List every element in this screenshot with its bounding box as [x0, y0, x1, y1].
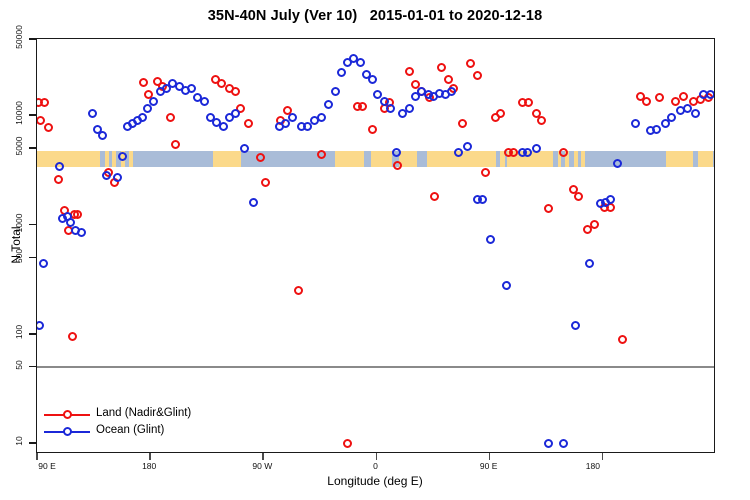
y-axis-tick-label: 50000 — [14, 17, 24, 57]
data-point — [667, 113, 676, 122]
x-axis-tick-label: 90 W — [232, 461, 292, 471]
data-point — [231, 109, 240, 118]
data-point — [502, 281, 511, 290]
y-axis-tick — [29, 114, 36, 116]
land-span — [371, 151, 391, 166]
data-point — [691, 109, 700, 118]
y-axis-tick-label: 10 — [14, 421, 24, 461]
data-point — [458, 119, 467, 128]
data-point — [187, 84, 196, 93]
data-point — [523, 148, 532, 157]
data-point — [652, 125, 661, 134]
data-point — [249, 198, 258, 207]
data-point — [88, 109, 97, 118]
reference-line-50 — [37, 366, 714, 368]
data-point — [68, 332, 77, 341]
legend-circle-icon — [63, 427, 72, 436]
data-point — [606, 195, 615, 204]
data-point — [171, 140, 180, 149]
land-span — [666, 151, 694, 166]
land-span — [105, 151, 109, 166]
data-point — [288, 113, 297, 122]
x-axis-tick-label: 0 — [346, 461, 406, 471]
data-point — [585, 259, 594, 268]
data-point — [244, 119, 253, 128]
data-point — [392, 148, 401, 157]
data-point — [261, 178, 270, 187]
data-point — [393, 161, 402, 170]
data-point — [679, 92, 688, 101]
data-point — [343, 439, 352, 448]
data-point — [44, 123, 53, 132]
data-point — [706, 90, 714, 99]
data-point — [631, 119, 640, 128]
data-point — [37, 321, 44, 330]
legend-marker-icon — [44, 406, 90, 423]
data-point — [368, 125, 377, 134]
x-axis-tick-label: 90 E — [459, 461, 519, 471]
land-span — [129, 151, 133, 166]
data-point — [486, 235, 495, 244]
data-point — [447, 87, 456, 96]
data-point — [337, 68, 346, 77]
data-point — [478, 195, 487, 204]
data-point — [368, 75, 377, 84]
data-point — [496, 109, 505, 118]
land-span — [335, 151, 364, 166]
data-point — [574, 192, 583, 201]
x-axis-label: Longitude (deg E) — [0, 474, 750, 488]
data-point — [317, 113, 326, 122]
legend-marker-icon — [44, 423, 90, 440]
land-span — [112, 151, 116, 166]
x-axis-tick — [36, 453, 38, 460]
data-point — [544, 204, 553, 213]
x-axis-tick-label: 180 — [119, 461, 179, 471]
land-span — [581, 151, 585, 166]
data-point — [54, 175, 63, 184]
data-point — [324, 100, 333, 109]
data-point — [655, 93, 664, 102]
data-point — [524, 98, 533, 107]
data-point — [138, 113, 147, 122]
data-point — [240, 144, 249, 153]
x-axis-tick — [602, 453, 604, 460]
legend-label: Land (Nadir&Glint) — [96, 407, 191, 419]
y-axis-tick — [29, 366, 36, 368]
data-point — [430, 192, 439, 201]
data-point — [537, 116, 546, 125]
data-point — [466, 59, 475, 68]
data-point — [331, 87, 340, 96]
land-span — [698, 151, 713, 166]
data-point — [77, 228, 86, 237]
data-point — [642, 97, 651, 106]
land-span — [213, 151, 241, 166]
data-point — [454, 148, 463, 157]
data-point — [358, 102, 367, 111]
data-point — [444, 75, 453, 84]
data-point — [683, 104, 692, 113]
x-axis-tick-label: 90 E — [17, 461, 77, 471]
x-axis-tick — [489, 453, 491, 460]
x-axis-tick-label: 180 — [563, 461, 623, 471]
y-axis-tick — [29, 147, 36, 149]
data-point — [437, 63, 446, 72]
data-point — [386, 104, 395, 113]
land-span — [37, 151, 100, 166]
data-point — [219, 122, 228, 131]
data-point — [98, 131, 107, 140]
data-point — [200, 97, 209, 106]
data-point — [463, 142, 472, 151]
data-point — [532, 144, 541, 153]
data-point — [405, 67, 414, 76]
data-point — [590, 220, 599, 229]
y-axis-tick-label: 100 — [14, 312, 24, 352]
y-axis-tick — [29, 38, 36, 40]
data-point — [618, 335, 627, 344]
y-axis-tick — [29, 442, 36, 444]
data-point — [613, 159, 622, 168]
page-title: 35N-40N July (Ver 10) 2015-01-01 to 2020… — [0, 8, 750, 24]
data-point — [473, 71, 482, 80]
y-axis-tick — [29, 333, 36, 335]
data-point — [571, 321, 580, 330]
legend-label: Ocean (Glint) — [96, 424, 164, 436]
data-point — [37, 116, 45, 125]
data-point — [509, 148, 518, 157]
data-point — [294, 286, 303, 295]
data-point — [55, 162, 64, 171]
data-point — [166, 113, 175, 122]
chart-root: 35N-40N July (Ver 10) 2015-01-01 to 2020… — [0, 0, 750, 500]
y-axis-tick — [29, 224, 36, 226]
data-point — [40, 98, 49, 107]
x-axis-tick — [149, 453, 151, 460]
data-point — [113, 173, 122, 182]
data-point — [317, 150, 326, 159]
plot-area — [36, 38, 715, 453]
y-axis-tick — [29, 257, 36, 259]
land-span — [574, 151, 578, 166]
y-axis-tick-label: 1000 — [14, 203, 24, 243]
x-axis-tick — [376, 453, 378, 460]
data-point — [139, 78, 148, 87]
data-point — [559, 439, 568, 448]
data-point — [231, 87, 240, 96]
data-point — [102, 171, 111, 180]
y-axis-tick-label: 10000 — [14, 93, 24, 133]
data-point — [39, 259, 48, 268]
x-axis-tick — [262, 453, 264, 460]
data-point — [481, 168, 490, 177]
plot-inner — [37, 39, 714, 452]
data-point — [405, 104, 414, 113]
data-point — [544, 439, 553, 448]
data-point — [149, 97, 158, 106]
data-point — [73, 210, 82, 219]
data-point — [356, 58, 365, 67]
legend-circle-icon — [63, 410, 72, 419]
